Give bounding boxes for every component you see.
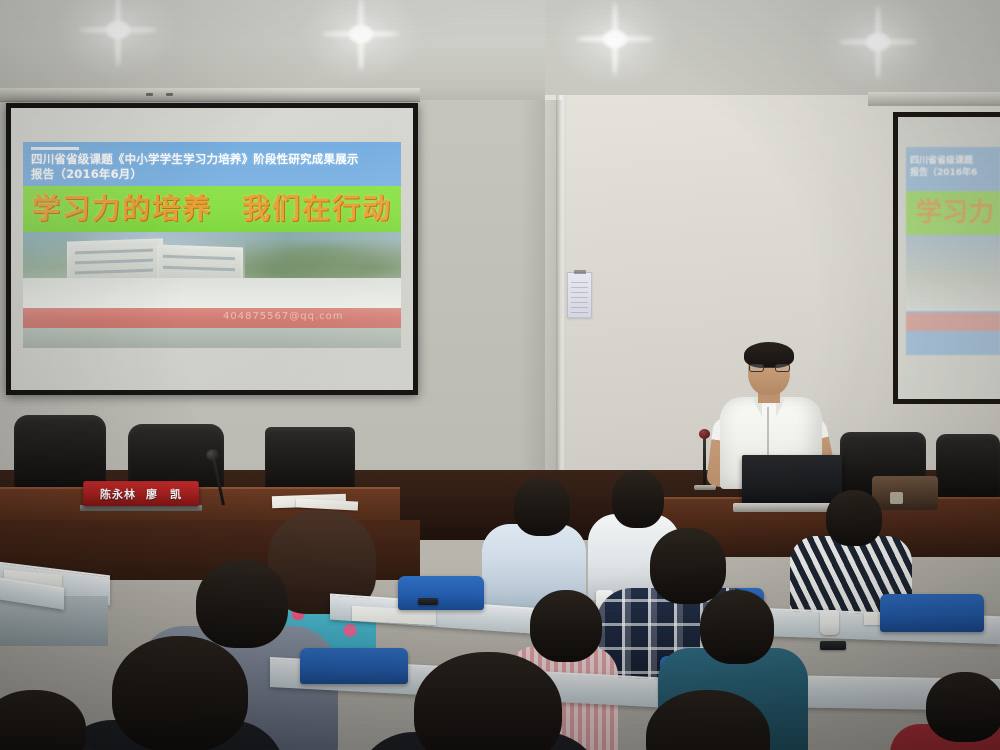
attendee-head xyxy=(530,590,602,662)
slide-banner: 学习力的培养 我们在行动 xyxy=(23,186,401,232)
slide2-footer-band xyxy=(906,313,1000,331)
executive-chair xyxy=(936,434,1000,498)
screen-surface: 四川省省级课题《中小学学生学习力培养》阶段性研究成果展示 报告（2016年6月）… xyxy=(11,108,413,390)
nameplate: 陈永林 廖 凯 xyxy=(83,481,200,506)
slide-header-band: 四川省省级课题《中小学学生学习力培养》阶段性研究成果展示 报告（2016年6月） xyxy=(23,142,401,188)
notice-text-lines xyxy=(571,282,588,313)
ceiling-spotlight xyxy=(359,32,363,36)
slide2-header-text: 四川省省级课题 报告（2016年6 xyxy=(910,155,1000,179)
ceiling-spotlight xyxy=(876,40,880,44)
leather-bag xyxy=(872,476,938,510)
attendee-head xyxy=(112,636,248,750)
slide-footer-band: 404875567@qq.com xyxy=(23,308,401,328)
slide-header-line2: 报告（2016年6月） xyxy=(31,167,397,182)
attendee-head xyxy=(926,672,1000,742)
ground-shape xyxy=(23,278,401,310)
slide-header-text: 四川省省级课题《中小学学生学习力培养》阶段性研究成果展示 报告（2016年6月） xyxy=(31,152,397,182)
ceiling-spotlight xyxy=(613,37,617,41)
slide2-header-line1: 四川省省级课题 xyxy=(910,155,1000,167)
screen-mount-trim xyxy=(0,88,420,102)
screen-mount-trim-right xyxy=(868,92,1000,106)
projected-slide: 四川省省级课题《中小学学生学习力培养》阶段性研究成果展示 报告（2016年6月）… xyxy=(23,142,401,348)
attendee-head xyxy=(700,590,774,664)
slide-header-line1: 四川省省级课题《中小学学生学习力培养》阶段性研究成果展示 xyxy=(31,152,397,167)
classroom-chair xyxy=(398,576,484,610)
attendee-head xyxy=(0,690,86,750)
presenter-microphone xyxy=(703,437,706,487)
projection-screen-main: 四川省省级课题《中小学学生学习力培养》阶段性研究成果展示 报告（2016年6月）… xyxy=(6,103,418,395)
photo-scene: 四川省省级课题《中小学学生学习力培养》阶段性研究成果展示 报告（2016年6月）… xyxy=(0,0,1000,750)
nameplate-name-right: 廖 凯 xyxy=(146,486,182,502)
slide-footer-text: 404875567@qq.com xyxy=(223,311,344,322)
microphone-base xyxy=(694,485,716,490)
nameplate-name-left: 陈永林 xyxy=(100,486,136,502)
slide2-banner-text: 学习力 xyxy=(906,191,1000,235)
classroom-chair xyxy=(300,648,408,684)
attendee-head xyxy=(612,470,664,528)
slide2-school-photo xyxy=(906,235,1000,311)
projected-slide-secondary: 四川省省级课题 报告（2016年6 学习力 xyxy=(906,147,1000,355)
presenter-laptop[interactable] xyxy=(742,455,842,505)
projection-screen-secondary: 四川省省级课题 报告（2016年6 学习力 xyxy=(893,112,1000,404)
slide-rule xyxy=(31,147,79,150)
slide-school-photo xyxy=(23,232,401,310)
ceiling-spotlight xyxy=(116,28,120,32)
bag-buckle-icon xyxy=(890,492,903,504)
mobile-phone[interactable] xyxy=(820,641,846,650)
attendee-head xyxy=(650,528,726,604)
glasses-icon xyxy=(749,364,790,372)
wall-notice-paper xyxy=(567,272,592,318)
wall-seam xyxy=(556,95,566,525)
microphone-head-icon xyxy=(699,429,710,439)
attendee-head xyxy=(196,560,288,648)
executive-chair xyxy=(265,427,355,495)
attendee-head xyxy=(514,478,570,536)
tape-strip xyxy=(574,270,586,274)
classroom-chair xyxy=(880,594,984,632)
paper-cup xyxy=(820,610,839,635)
attendee-head xyxy=(414,652,562,750)
slide-bottom-band xyxy=(23,328,401,348)
slide-banner-text: 学习力的培养 我们在行动 xyxy=(23,186,401,232)
attendee-head xyxy=(826,490,882,546)
slide2-header-line2: 报告（2016年6 xyxy=(910,167,1000,179)
screen-surface-secondary: 四川省省级课题 报告（2016年6 学习力 xyxy=(898,117,1000,399)
slide2-banner: 学习力 xyxy=(906,191,1000,235)
mobile-phone[interactable] xyxy=(418,598,438,605)
